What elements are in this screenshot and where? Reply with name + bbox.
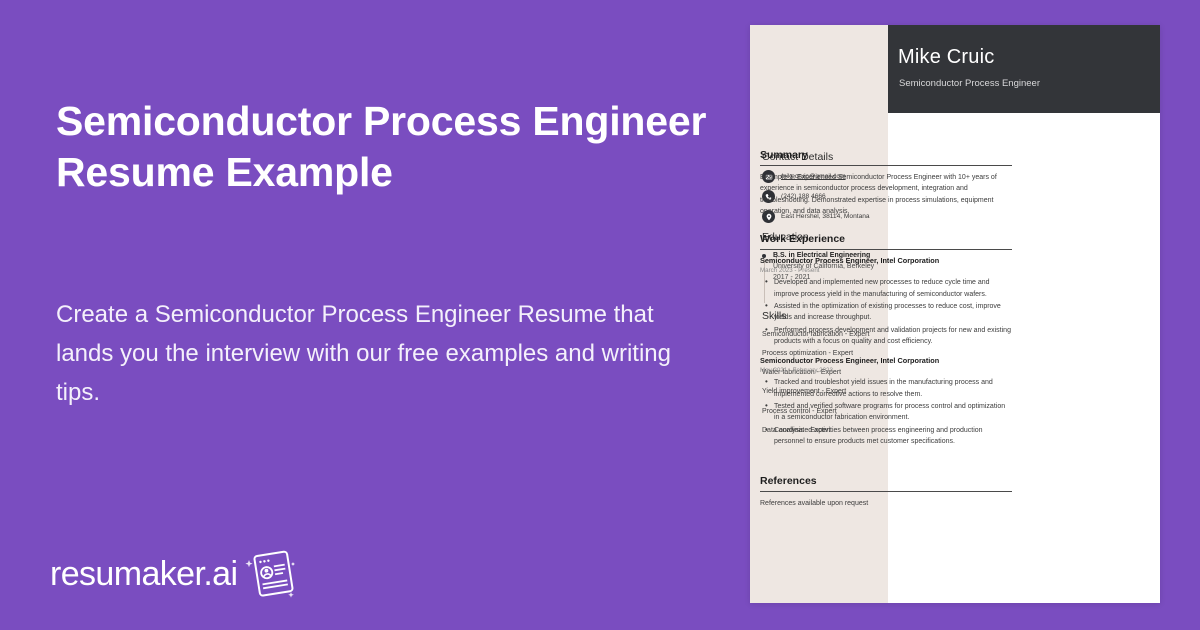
job-dates: May 2021 - February 2023 xyxy=(760,367,1012,374)
job-bullet: Tested and verified software programs fo… xyxy=(774,401,1012,424)
references-heading: References xyxy=(760,475,1012,492)
work-experience-section: Work Experience Semiconductor Process En… xyxy=(760,233,1012,448)
resume-document-icon xyxy=(241,548,297,600)
work-experience-heading: Work Experience xyxy=(760,233,1012,250)
job-dates: March 2023 - Present xyxy=(760,267,1012,274)
job-title: Semiconductor Process Engineer, Intel Co… xyxy=(760,356,1012,366)
summary-text: Example 1: Experienced Semiconductor Pro… xyxy=(760,172,1012,217)
resume-name: Mike Cruic xyxy=(898,46,994,69)
promo-panel: Semiconductor Process Engineer Resume Ex… xyxy=(0,0,750,630)
references-text: References available upon request xyxy=(760,498,1012,509)
job-title: Semiconductor Process Engineer, Intel Co… xyxy=(760,256,1012,266)
job-entry: Semiconductor Process Engineer, Intel Co… xyxy=(760,356,1012,447)
job-bullet: Assisted in the optimization of existing… xyxy=(774,301,1012,324)
logo-wordmark: resumaker.ai xyxy=(50,555,237,594)
job-bullet: Coordinated activities between process e… xyxy=(774,425,1012,448)
job-bullets: Developed and implemented new processes … xyxy=(760,277,1012,347)
job-bullets: Tracked and troubleshot yield issues in … xyxy=(760,377,1012,447)
resumaker-logo[interactable]: resumaker.ai xyxy=(50,548,297,600)
resume-role: Semiconductor Process Engineer xyxy=(899,78,1040,89)
job-entry: Semiconductor Process Engineer, Intel Co… xyxy=(760,256,1012,347)
page-title: Semiconductor Process Engineer Resume Ex… xyxy=(56,96,716,199)
summary-section: Summary Example 1: Experienced Semicondu… xyxy=(760,149,1012,217)
job-bullet: Developed and implemented new processes … xyxy=(774,277,1012,300)
resume-preview-card[interactable]: Mike Cruic Semiconductor Process Enginee… xyxy=(750,25,1160,603)
summary-heading: Summary xyxy=(760,149,1012,166)
job-bullet: Tracked and troubleshot yield issues in … xyxy=(774,377,1012,400)
references-section: References References available upon req… xyxy=(760,475,1012,509)
job-bullet: Performed process development and valida… xyxy=(774,325,1012,348)
page-subtitle: Create a Semiconductor Process Engineer … xyxy=(56,296,706,413)
